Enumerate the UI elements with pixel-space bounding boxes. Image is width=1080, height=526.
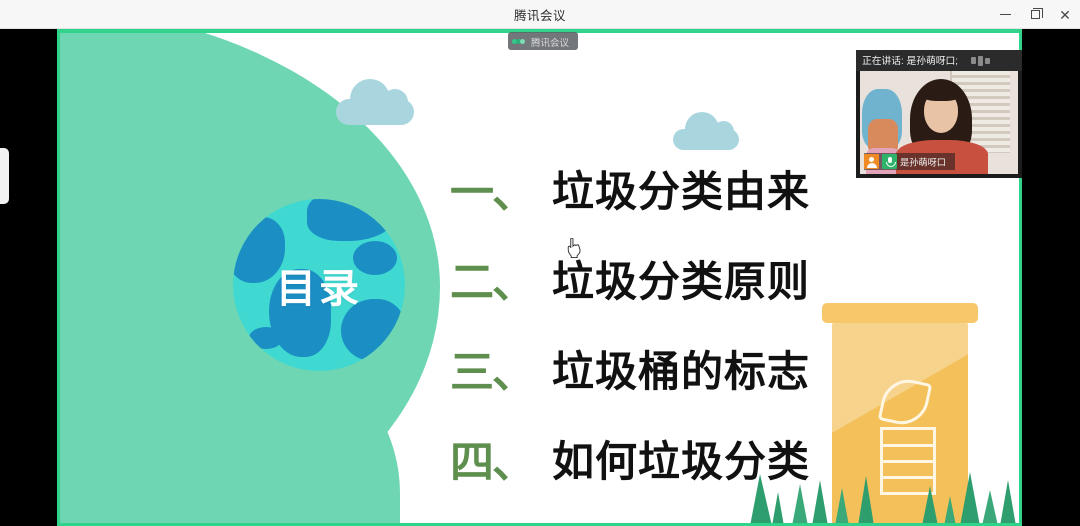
globe-label: 目录 bbox=[233, 199, 405, 371]
toc-label: 垃圾桶的标志 bbox=[552, 338, 810, 399]
leaf-shape bbox=[878, 375, 933, 430]
toc-number: 二、 bbox=[450, 246, 552, 310]
window-controls: ✕ bbox=[990, 0, 1080, 29]
participant-name-label: 是孙萌呀口 bbox=[900, 155, 946, 169]
participant-name-pill: 是孙萌呀口 bbox=[864, 153, 955, 170]
toc-item-1: 一、 垃圾分类由来 bbox=[450, 143, 870, 233]
minimize-icon bbox=[1000, 14, 1011, 15]
toc-item-3: 三、 垃圾桶的标志 bbox=[450, 323, 870, 413]
toc-number: 三、 bbox=[450, 336, 552, 400]
minimize-button[interactable] bbox=[990, 0, 1020, 29]
table-of-contents: 一、 垃圾分类由来 二、 垃圾分类原则 三、 垃圾桶的标志 四、 如何垃圾分类 bbox=[450, 143, 870, 503]
title-bar: 腾讯会议 ✕ bbox=[0, 0, 1080, 29]
toc-label: 垃圾分类由来 bbox=[552, 158, 810, 219]
participant-video-tile[interactable]: 正在讲话: 是孙萌呀口; 是孙萌呀口 bbox=[856, 50, 1022, 178]
trash-bin-lid bbox=[822, 303, 978, 323]
toc-item-2: 二、 垃圾分类原则 bbox=[450, 233, 870, 323]
meeting-badge-label: 腾讯会议 bbox=[531, 34, 569, 48]
participant-fringe bbox=[920, 85, 962, 101]
microphone-icon[interactable] bbox=[882, 154, 897, 169]
video-feed: 是孙萌呀口 bbox=[860, 71, 1018, 174]
video-background-toy bbox=[862, 89, 902, 149]
toc-number: 一、 bbox=[450, 156, 552, 220]
meeting-window: 腾讯会议 ✕ 腾讯会议 bbox=[0, 0, 1080, 526]
window-title: 腾讯会议 bbox=[514, 5, 566, 24]
maximize-restore-button[interactable] bbox=[1020, 0, 1050, 29]
audio-level-icon bbox=[971, 56, 990, 66]
person-icon bbox=[864, 154, 879, 169]
globe-graphic: 目录 bbox=[233, 199, 405, 371]
side-drawer-handle-icon[interactable] bbox=[0, 148, 9, 204]
meeting-badge[interactable]: 腾讯会议 bbox=[508, 32, 578, 50]
restore-icon bbox=[1031, 10, 1040, 19]
active-speaker-bar: 正在讲话: 是孙萌呀口; bbox=[856, 50, 1022, 71]
active-speaker-label: 正在讲话: 是孙萌呀口; bbox=[862, 54, 958, 68]
grass-icon bbox=[60, 466, 1019, 526]
close-icon: ✕ bbox=[1059, 8, 1071, 22]
cloud-icon-left bbox=[336, 99, 414, 125]
tencent-meeting-logo-icon bbox=[512, 36, 527, 47]
toc-label: 垃圾分类原则 bbox=[552, 248, 810, 309]
close-button[interactable]: ✕ bbox=[1050, 0, 1080, 29]
